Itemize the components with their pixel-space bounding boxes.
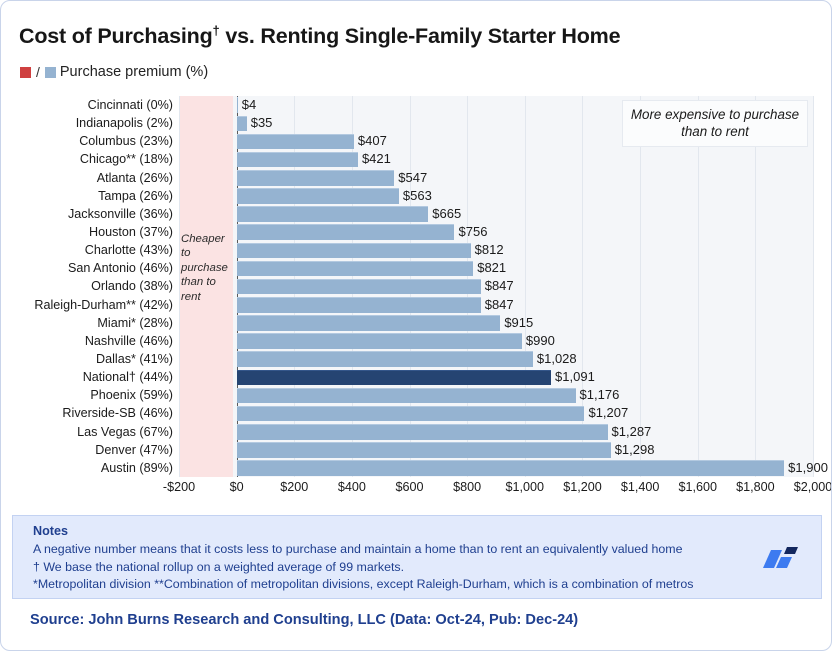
annotation-cheaper-to-purchase: Cheaper to purchase than to rent xyxy=(181,232,231,304)
chart-bar[interactable] xyxy=(237,442,611,458)
chart-bar-row[interactable]: $915 xyxy=(179,314,813,332)
notes-panel: Notes A negative number means that it co… xyxy=(12,515,822,599)
chart-bar[interactable] xyxy=(237,388,576,404)
chart-bar[interactable] xyxy=(237,460,785,476)
chart-bar-value-label: $407 xyxy=(358,132,387,150)
notes-line: *Metropolitan division **Combination of … xyxy=(33,576,693,594)
chart-bar-row[interactable]: $547 xyxy=(179,169,813,187)
chart-bar[interactable] xyxy=(237,152,358,168)
company-logo-icon xyxy=(757,538,803,578)
chart-bar[interactable] xyxy=(237,188,399,204)
chart-bar-row[interactable]: $563 xyxy=(179,187,813,205)
x-axis-tick-label: $0 xyxy=(230,480,244,494)
chart-bar-value-label: $915 xyxy=(504,314,533,332)
chart-bar[interactable] xyxy=(237,333,522,349)
chart-bar-row[interactable]: $1,287 xyxy=(179,423,813,441)
x-axis-tick-label: $400 xyxy=(338,480,366,494)
chart-bar[interactable] xyxy=(237,279,481,295)
chart-bar-value-label: $756 xyxy=(459,223,488,241)
source-line: Source: John Burns Research and Consulti… xyxy=(30,612,578,628)
chart-bar-row[interactable]: $1,091 xyxy=(179,368,813,386)
chart-bar-value-label: $847 xyxy=(485,277,514,295)
x-axis-tick-label: -$200 xyxy=(163,480,195,494)
chart-bar-value-label: $1,298 xyxy=(615,441,655,459)
gridline-vertical xyxy=(813,96,814,477)
x-axis-tick-label: $1,000 xyxy=(506,480,545,494)
chart-bar-value-label: $4 xyxy=(242,96,256,114)
chart-bar-value-label: $1,028 xyxy=(537,350,577,368)
x-axis-tick-label: $2,000 xyxy=(794,480,832,494)
chart-bar[interactable] xyxy=(237,370,551,386)
x-axis-tick-label: $1,200 xyxy=(563,480,602,494)
chart-bar-row[interactable]: $665 xyxy=(179,205,813,223)
chart-bar-value-label: $35 xyxy=(251,114,273,132)
chart-bar[interactable] xyxy=(237,97,238,113)
chart-bar-row[interactable]: $756 xyxy=(179,223,813,241)
x-axis-tick-label: $1,600 xyxy=(678,480,717,494)
chart-bar-row[interactable]: $990 xyxy=(179,332,813,350)
chart-bar[interactable] xyxy=(237,170,395,186)
x-axis-tick-label: $1,400 xyxy=(621,480,660,494)
chart-bar-value-label: $563 xyxy=(403,187,432,205)
chart-bar-value-label: $1,287 xyxy=(612,423,652,441)
chart-bar[interactable] xyxy=(237,351,533,367)
x-axis-tick-label: $600 xyxy=(396,480,424,494)
chart-plot-area: $4$35$407$421$547$563$665$756$812$821$84… xyxy=(179,96,813,477)
chart-bar-value-label: $990 xyxy=(526,332,555,350)
chart-bar[interactable] xyxy=(237,224,455,240)
chart-bar[interactable] xyxy=(237,424,608,440)
chart-bar[interactable] xyxy=(237,206,429,222)
chart-bar[interactable] xyxy=(237,116,247,132)
annotation-more-expensive-to-purchase: More expensive to purchase than to rent xyxy=(622,100,808,147)
chart-bar[interactable] xyxy=(237,406,585,422)
chart-bar-value-label: $1,207 xyxy=(588,404,628,422)
chart-bar-value-label: $547 xyxy=(398,169,427,187)
chart-bar-row[interactable]: $847 xyxy=(179,296,813,314)
notes-body: A negative number means that it costs le… xyxy=(33,541,693,594)
chart-bar-value-label: $812 xyxy=(475,241,504,259)
x-axis-tick-label: $1,800 xyxy=(736,480,775,494)
chart-bar-row[interactable]: $812 xyxy=(179,241,813,259)
chart-bar-value-label: $665 xyxy=(432,205,461,223)
chart-bar[interactable] xyxy=(237,297,481,313)
chart-bar[interactable] xyxy=(237,134,354,150)
chart-bar-value-label: $421 xyxy=(362,150,391,168)
chart-bar[interactable] xyxy=(237,261,474,277)
chart-bar-row[interactable]: $821 xyxy=(179,259,813,277)
chart-bar[interactable] xyxy=(237,243,471,259)
chart-bar-value-label: $1,176 xyxy=(580,386,620,404)
x-axis-labels: -$200$0$200$400$600$800$1,000$1,200$1,40… xyxy=(179,480,813,500)
chart-card: Cost of Purchasing† vs. Renting Single-F… xyxy=(0,0,832,651)
notes-line: A negative number means that it costs le… xyxy=(33,541,693,559)
chart-bar-value-label: $847 xyxy=(485,296,514,314)
chart-bar-row[interactable]: $847 xyxy=(179,277,813,295)
chart-bar-row[interactable]: $1,900 xyxy=(179,459,813,477)
notes-line: † We base the national rollup on a weigh… xyxy=(33,559,693,577)
notes-heading: Notes xyxy=(33,524,68,538)
chart-bar-row[interactable]: $1,176 xyxy=(179,386,813,404)
x-axis-tick-label: $200 xyxy=(280,480,308,494)
chart-bar-row[interactable]: $1,207 xyxy=(179,404,813,422)
chart-bar-row[interactable]: $421 xyxy=(179,150,813,168)
chart-bar-value-label: $821 xyxy=(477,259,506,277)
chart-bar-row[interactable]: $1,028 xyxy=(179,350,813,368)
chart-bar[interactable] xyxy=(237,315,501,331)
x-axis-tick-label: $800 xyxy=(453,480,481,494)
chart-bar-row[interactable]: $1,298 xyxy=(179,441,813,459)
chart-bar-value-label: $1,091 xyxy=(555,368,595,386)
chart-bar-value-label: $1,900 xyxy=(788,459,828,477)
